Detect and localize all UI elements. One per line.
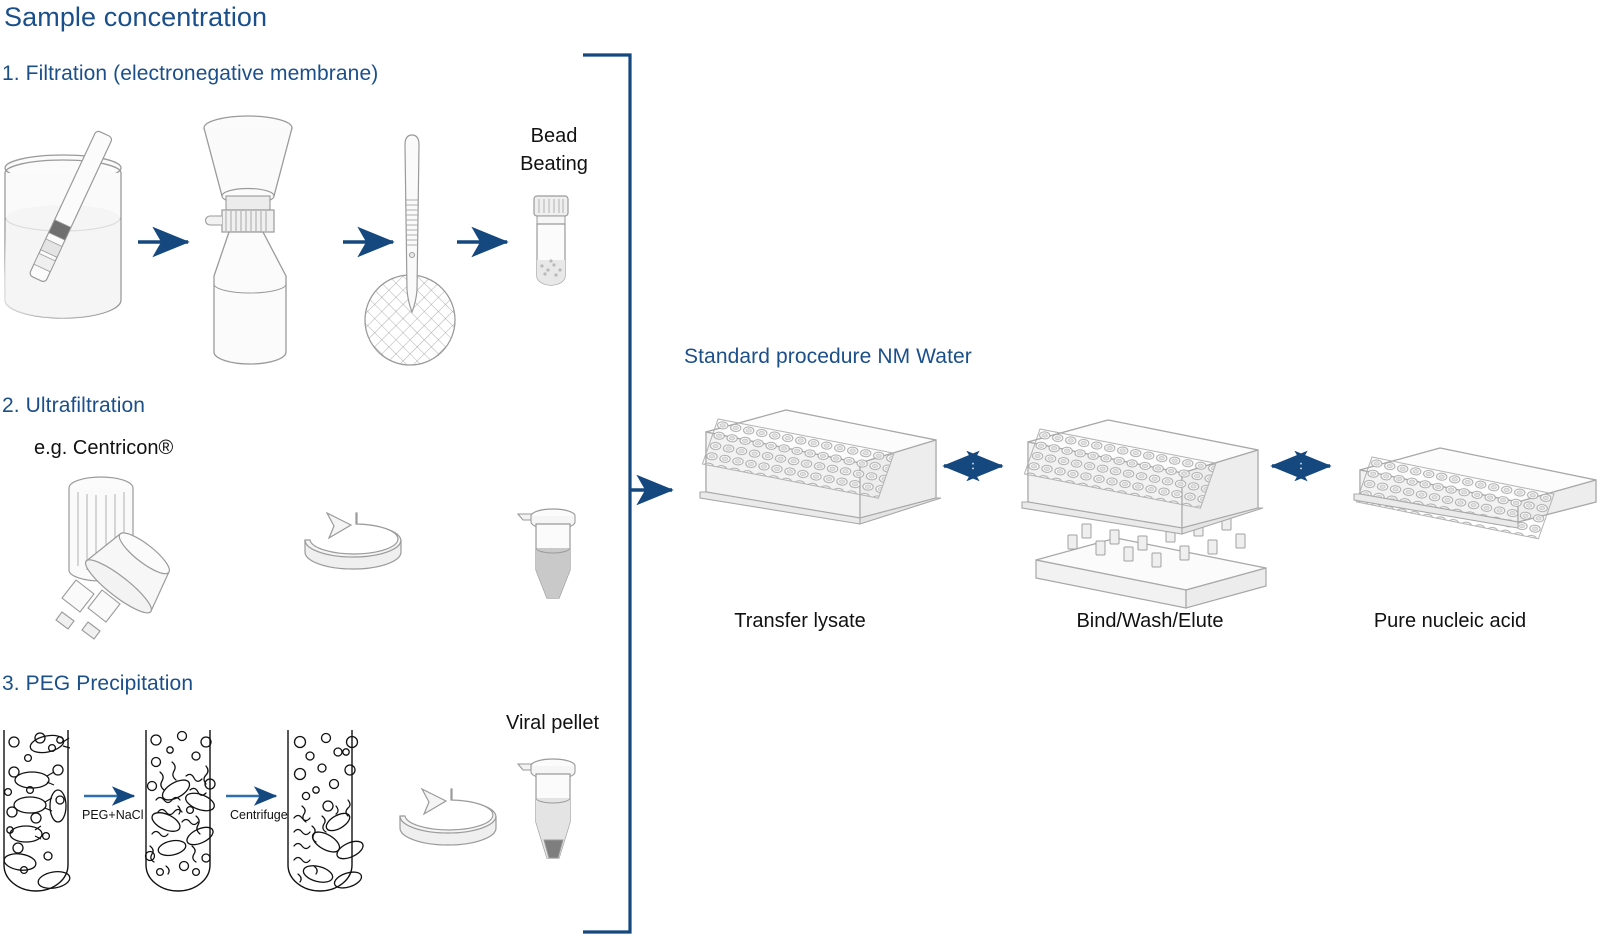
magnetic-rod-plate-icon: [1022, 420, 1266, 608]
peg-precipitation-tube-icon: [288, 730, 366, 891]
filtration-funnel-icon: [204, 116, 292, 364]
bead-beating-tube-icon: [534, 196, 568, 285]
shallow-well-plate-icon: [1354, 448, 1596, 539]
centrifuge-spin-icon: [305, 513, 401, 569]
peg-precipitation-tube-icon: [3, 730, 71, 891]
microcentrifuge-tube-icon: [518, 509, 575, 598]
centrifuge-spin-icon: [400, 789, 496, 845]
tweezers-icon: [405, 135, 419, 312]
beaker-with-strip-icon: [4, 130, 121, 318]
centricon-device-icon: [56, 477, 182, 639]
deep-well-plate-icon: [700, 410, 941, 524]
microcentrifuge-tube-icon: [518, 759, 575, 858]
grouping-bracket-icon: [583, 55, 630, 932]
peg-precipitation-tube-icon: [146, 730, 217, 891]
